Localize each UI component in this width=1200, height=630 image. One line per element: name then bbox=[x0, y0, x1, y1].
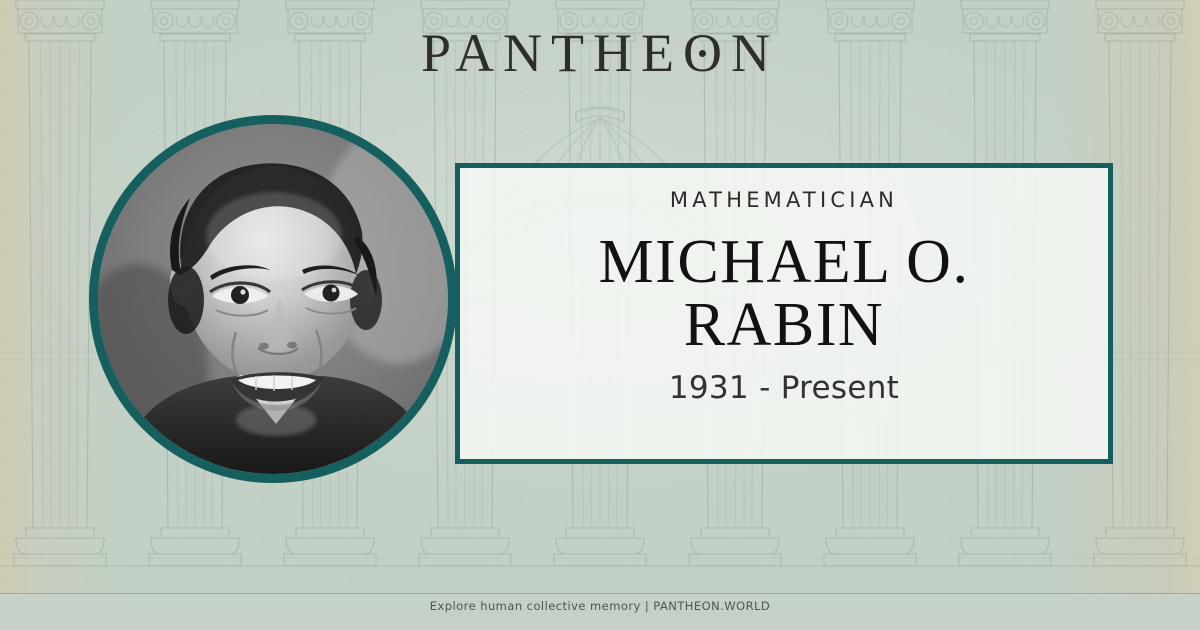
profile-info-card: MATHEMATICIAN MICHAEL O. RABIN 1931 - Pr… bbox=[455, 163, 1113, 464]
person-name-line-2: RABIN bbox=[599, 294, 970, 357]
portrait-avatar bbox=[89, 115, 457, 483]
wordmark-oculus-o: O bbox=[683, 26, 731, 80]
person-name-line-1: MICHAEL O. bbox=[599, 231, 970, 294]
footer-divider bbox=[0, 593, 1200, 594]
portrait-photo bbox=[98, 124, 448, 474]
pantheon-profile-card: PANTHEON MATHEMATICIAN MICHAEL O. RABIN … bbox=[0, 0, 1200, 630]
wordmark-o-letter: O bbox=[683, 23, 731, 83]
pantheon-wordmark: PANTHEON bbox=[0, 26, 1200, 80]
occupation-label: MATHEMATICIAN bbox=[670, 190, 898, 211]
profile-card-content: MATHEMATICIAN MICHAEL O. RABIN 1931 - Pr… bbox=[460, 168, 1108, 459]
footer-tagline: Explore human collective memory | PANTHE… bbox=[0, 601, 1200, 613]
person-name: MICHAEL O. RABIN bbox=[599, 231, 970, 357]
lifespan-label: 1931 - Present bbox=[669, 373, 899, 404]
wordmark-part-before: PANTHE bbox=[421, 23, 683, 83]
wordmark-part-after: N bbox=[731, 23, 779, 83]
oculus-dot-icon bbox=[699, 50, 706, 57]
